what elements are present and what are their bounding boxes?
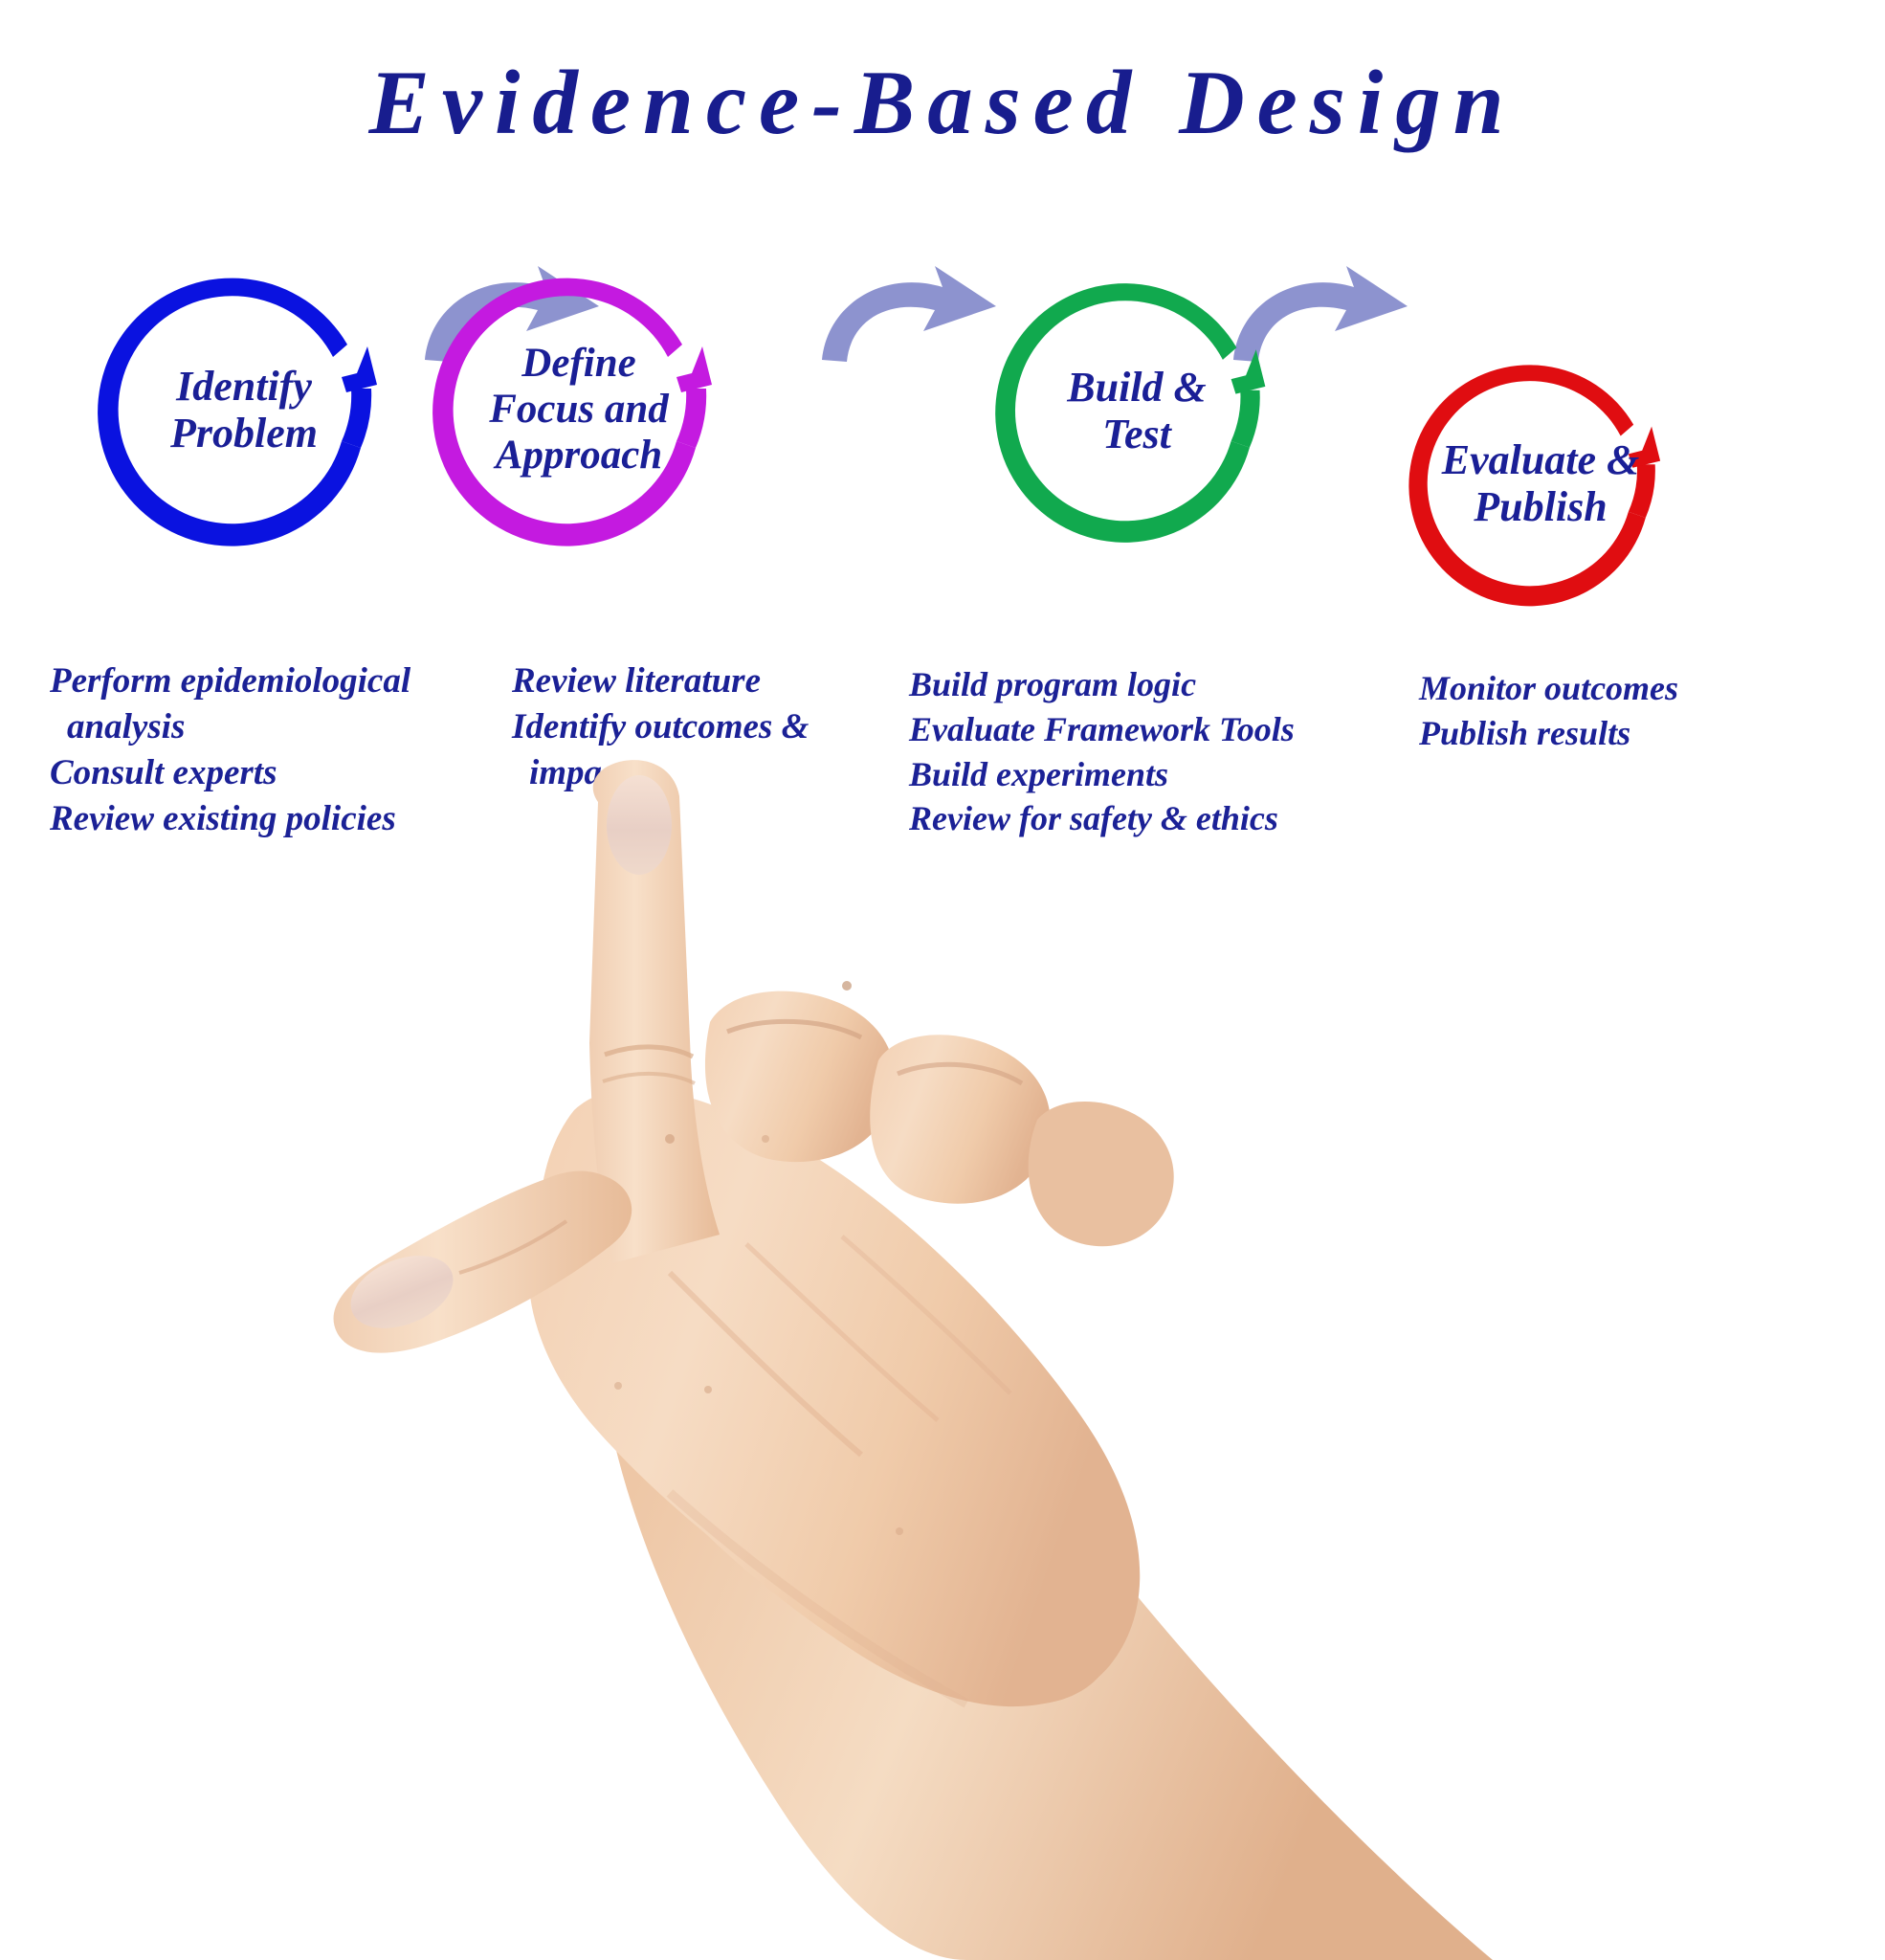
bullet-line: Review for safety & ethics [909,796,1295,841]
bullet-list-evaluate-and-publish: Monitor outcomes Publish results [1419,666,1678,756]
forearm [609,1330,1493,1960]
circular-arrow-icon [432,278,712,546]
bullet-line: Monitor outcomes [1419,666,1678,711]
bullet-line: Review literature [512,658,809,704]
hand-back [529,1156,1127,1704]
stage-circle-build-and-test[interactable]: Build & Test [998,272,1275,549]
bullet-line: Evaluate Framework Tools [909,707,1295,752]
bullet-list-define-focus-and-approach: Review literature Identify outcomes & im… [512,658,809,796]
circular-arrow-icon [995,283,1265,543]
hand-mass [540,1089,1141,1706]
bullet-line: impacts [512,750,809,796]
index-finger [589,760,720,1263]
bullet-line: Review existing policies [50,796,410,842]
middle-finger-knuckle [705,991,895,1162]
bullet-line: Consult experts [50,750,410,796]
bullet-line: Identify outcomes & [512,704,809,750]
bullet-line: Perform epidemiological [50,658,410,704]
bullet-line: Build program logic [909,662,1295,707]
stage-circle-evaluate-and-publish[interactable]: Evaluate & Publish [1411,354,1670,612]
page-title: Evidence-Based Design [0,56,1885,151]
bullet-line: Publish results [1419,711,1678,756]
stage-circle-identify-problem[interactable]: Identify Problem [100,266,388,553]
circular-arrow-icon [98,278,377,546]
stage-circle-define-focus-and-approach[interactable]: Define Focus and Approach [435,266,722,553]
ring-finger-knuckle [870,1035,1051,1204]
circular-arrow-icon [1408,365,1660,606]
bullet-list-identify-problem: Perform epidemiological analysis Consult… [50,658,410,842]
bullet-line: analysis [50,704,410,750]
little-finger-knuckle [1029,1102,1174,1246]
thumbnail [340,1241,463,1342]
thumb [334,1171,632,1353]
bullet-line: Build experiments [909,752,1295,797]
connector-arrow-2 [818,264,1000,365]
diagram-canvas: Evidence-Based Design Identify [0,0,1885,1960]
bullet-list-build-and-test: Build program logic Evaluate Framework T… [909,662,1295,841]
